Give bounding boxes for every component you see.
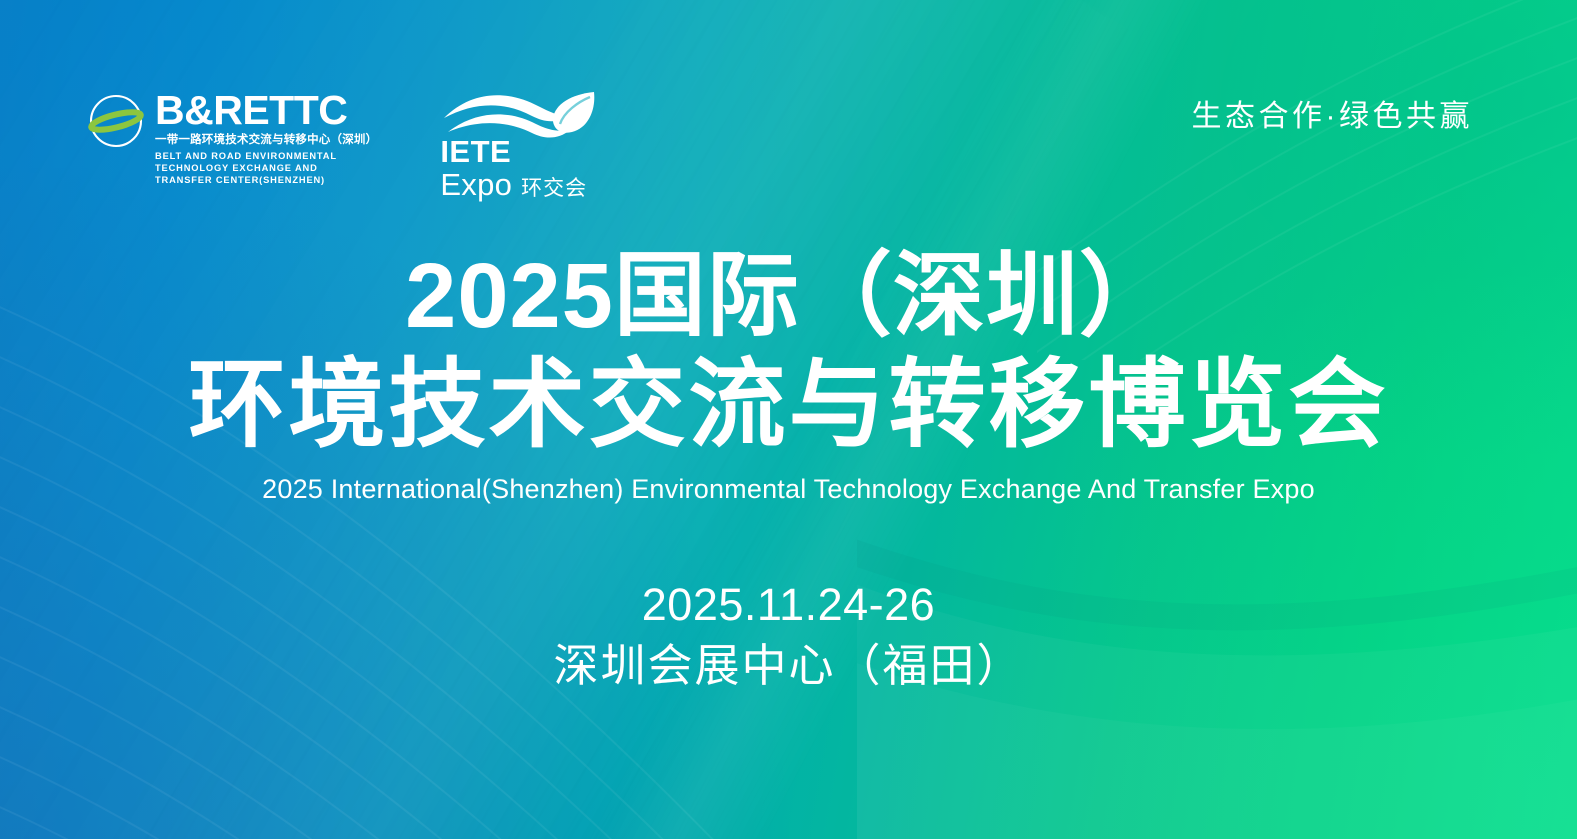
event-banner: B&RETTC 一带一路环境技术交流与转移中心（深圳） BELT AND ROA…: [0, 0, 1577, 839]
iete-chinese-abbr: 环交会: [521, 178, 587, 199]
iete-expo-logo[interactable]: IETE Expo 环交会: [438, 88, 598, 200]
page-title-line2: 环境技术交流与转移博览会: [0, 354, 1577, 457]
banner-content: 2025国际（深圳） 环境技术交流与转移博览会 2025 Internation…: [0, 248, 1577, 694]
iete-expo-word: Expo: [440, 169, 512, 200]
banner-slogan: 生态合作·绿色共赢: [1192, 102, 1474, 132]
iete-subtitle-row: Expo 环交会: [440, 169, 598, 200]
globe-with-band-icon: [88, 93, 144, 149]
iete-wordmark: IETE: [440, 136, 598, 167]
event-meta: 2025.11.24-26 深圳会展中心（福田）: [0, 577, 1577, 694]
event-venue: 深圳会展中心（福田）: [0, 638, 1577, 694]
brettc-english-name: BELT AND ROAD ENVIRONMENTAL TECHNOLOGY E…: [155, 150, 370, 187]
page-title-line1: 2025国际（深圳）: [0, 248, 1577, 346]
brettc-wordmark: B&RETTC: [155, 90, 377, 130]
logo-group: B&RETTC 一带一路环境技术交流与转移中心（深圳） BELT AND ROA…: [88, 88, 598, 200]
event-date: 2025.11.24-26: [0, 577, 1577, 633]
banner-header: B&RETTC 一带一路环境技术交流与转移中心（深圳） BELT AND ROA…: [0, 0, 1577, 200]
brettc-logo[interactable]: B&RETTC 一带一路环境技术交流与转移中心（深圳） BELT AND ROA…: [88, 88, 377, 186]
brettc-text-block: B&RETTC 一带一路环境技术交流与转移中心（深圳） BELT AND ROA…: [155, 90, 377, 186]
page-subtitle-english: 2025 International(Shenzhen) Environment…: [0, 474, 1577, 505]
logo-divider: [407, 92, 408, 184]
brettc-chinese-name: 一带一路环境技术交流与转移中心（深圳）: [155, 133, 377, 149]
